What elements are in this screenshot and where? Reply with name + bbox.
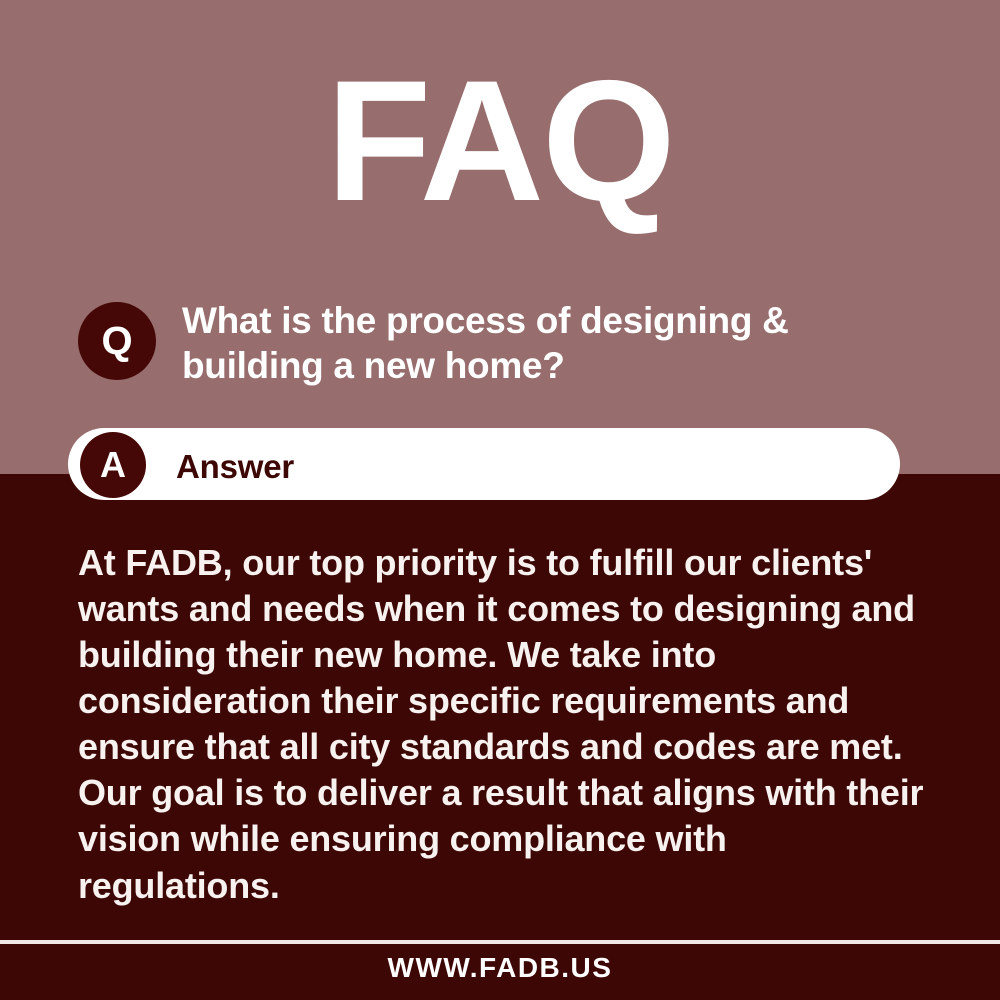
answer-badge: A (80, 432, 146, 498)
question-text: What is the process of designing & build… (182, 296, 923, 388)
footer-website: WWW.FADB.US (0, 952, 1000, 984)
answer-body-text: At FADB, our top priority is to fulfill … (78, 540, 928, 909)
question-badge: Q (78, 302, 156, 380)
page-title: FAQ (0, 55, 1000, 227)
answer-pill-label: Answer (176, 448, 294, 486)
faq-card: FAQ Q What is the process of designing &… (0, 0, 1000, 1000)
question-block: Q What is the process of designing & bui… (78, 296, 923, 388)
footer-divider (0, 940, 1000, 944)
